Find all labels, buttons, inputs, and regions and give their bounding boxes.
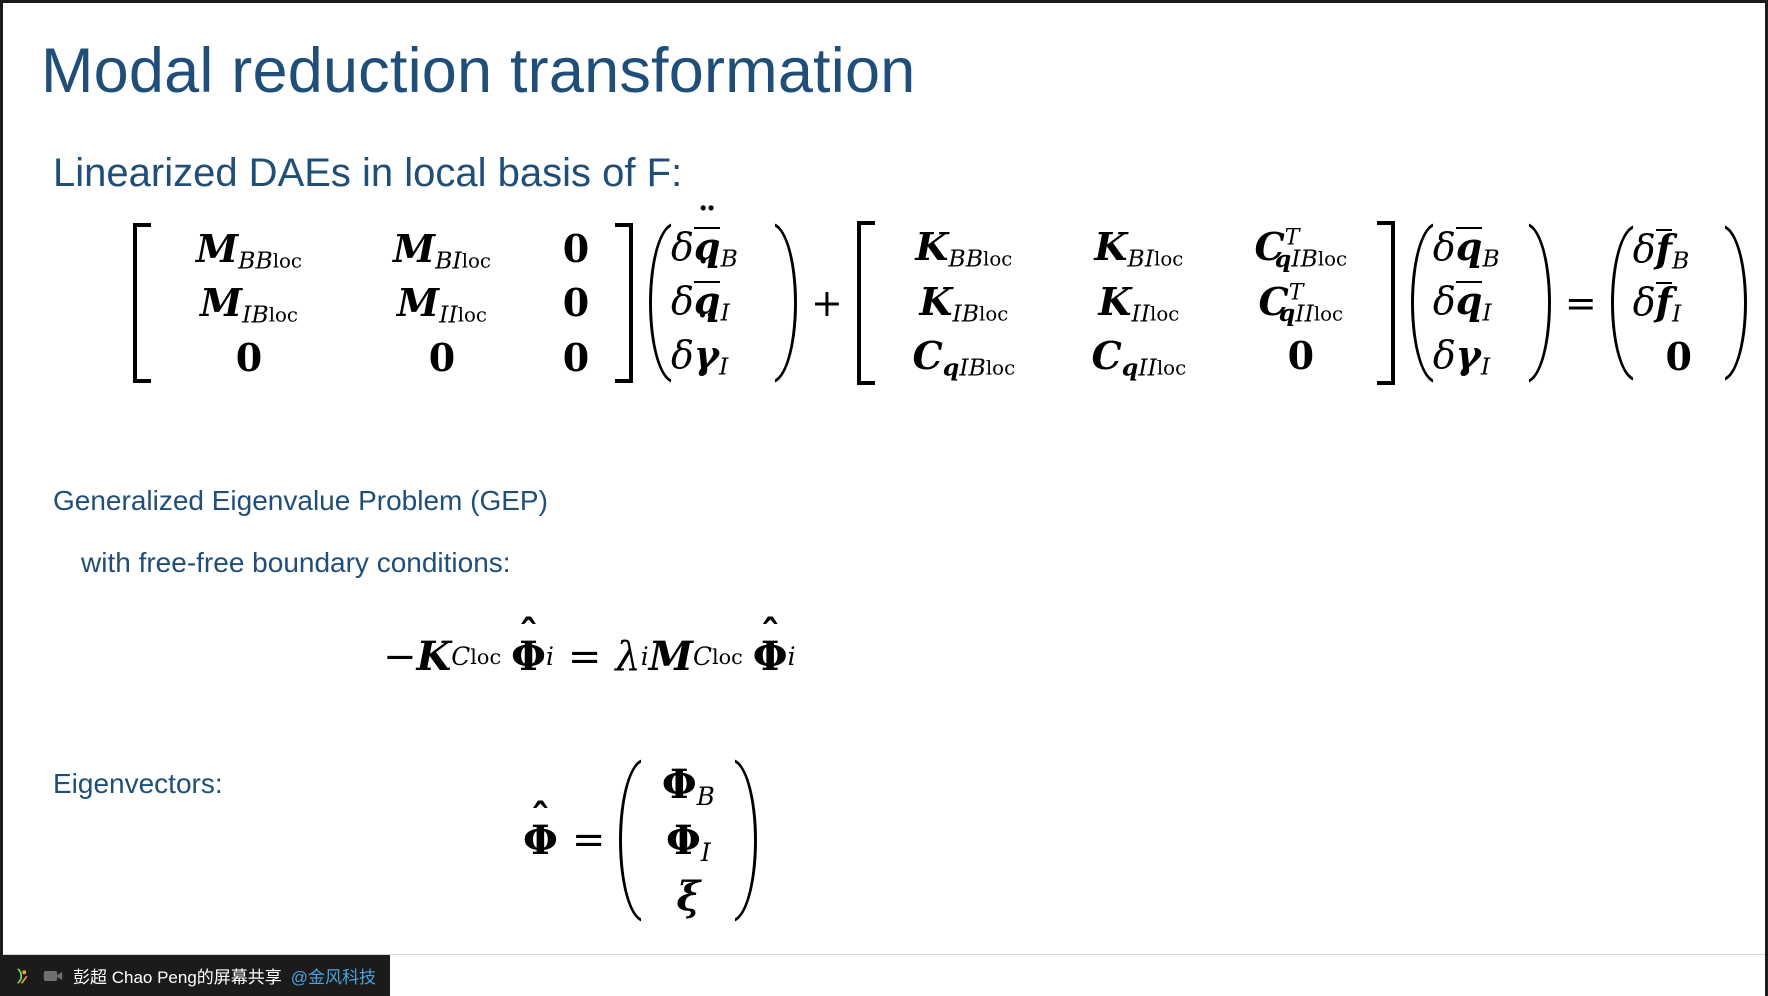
matrix-cell: CTqIBloc: [1225, 221, 1377, 276]
equals-operator: =: [554, 634, 616, 680]
dae-matrix-equation: MBBloc MBIloc 0 MIBloc MIIloc 0 0 0 0: [133, 221, 1747, 385]
matrix-bracket-left: [857, 221, 875, 385]
paren-right: [1725, 224, 1747, 382]
presentation-slide: Modal reduction transformation Linearize…: [0, 0, 1768, 996]
matrix-cell: KBBloc: [875, 221, 1053, 276]
paren-left: [619, 758, 641, 923]
matrix-cell: KIBloc: [875, 276, 1053, 331]
eigenvector-column: ΦB ΦI ξ: [619, 758, 757, 923]
camera-icon[interactable]: [42, 965, 64, 987]
vector-entry: ΦI: [641, 814, 735, 870]
taskbar: 彭超 Chao Peng的屏幕共享 @金风科技: [3, 954, 1768, 996]
phi-hat-symbol: Φ: [523, 817, 558, 864]
stiffness-matrix: KBBloc KBIloc CTqIBloc KIBloc KIIloc CTq…: [857, 221, 1395, 385]
vector-entry: δqI: [1433, 276, 1529, 330]
matrix-cell: CTqIIloc: [1225, 276, 1377, 331]
eigenvectors-heading: Eigenvectors:: [53, 768, 223, 800]
matrix-cell: MIBloc: [151, 277, 347, 332]
matrix-cell: 0: [537, 223, 615, 274]
matrix-cell: 0: [537, 332, 615, 383]
matrix-cell: MBIloc: [347, 223, 537, 278]
screen-share-indicator[interactable]: 彭超 Chao Peng的屏幕共享 @金风科技: [3, 955, 390, 996]
paren-right: [735, 758, 757, 923]
gep-subheading: with free-free boundary conditions:: [81, 547, 511, 579]
plus-operator: +: [797, 281, 857, 325]
vector-entry: ΦB: [641, 758, 735, 814]
vector-entry: δγI: [671, 329, 775, 384]
matrix-cell: 0: [347, 332, 537, 383]
section-heading-linearized-daes: Linearized DAEs in local basis of F:: [53, 151, 682, 196]
vector-entry: δγI: [1433, 329, 1529, 384]
share-text: 彭超 Chao Peng的屏幕共享: [73, 963, 282, 988]
vector-entry: 0: [1633, 331, 1725, 382]
matrix-cell: MIIloc: [347, 277, 537, 332]
phi-hat-symbol: Φ: [753, 633, 788, 680]
paren-left: [1611, 224, 1633, 382]
matrix-cell: 0: [151, 332, 347, 383]
gep-heading: Generalized Eigenvalue Problem (GEP): [53, 485, 548, 517]
screen-share-icon[interactable]: [11, 965, 33, 987]
matrix-cell: 0: [1225, 330, 1377, 381]
paren-right: [1529, 222, 1551, 384]
matrix-cell: CqIIloc: [1053, 330, 1225, 385]
vector-entry: δqB: [1433, 222, 1529, 276]
matrix-cell: MBBloc: [151, 223, 347, 278]
mass-matrix: MBBloc MBIloc 0 MIBloc MIIloc 0 0 0 0: [133, 223, 633, 383]
paren-left: [649, 222, 671, 384]
vector-entry: δfI: [1633, 277, 1725, 331]
share-handle: @金风科技: [291, 963, 376, 988]
equals-operator: =: [558, 817, 620, 863]
eigenvector-definition: Φ = ΦB ΦI ξ: [523, 758, 757, 923]
phi-hat-symbol: Φ: [511, 633, 546, 680]
paren-left: [1411, 222, 1433, 384]
matrix-cell: CqIBloc: [875, 330, 1053, 385]
equals-operator: =: [1551, 281, 1611, 325]
vector-entry: δqB: [671, 222, 775, 276]
vector-entry: δfB: [1633, 224, 1725, 278]
matrix-bracket-right: [615, 223, 633, 383]
matrix-bracket-right: [1377, 221, 1395, 385]
matrix-cell: KBIloc: [1053, 221, 1225, 276]
vector-entry: ξ: [641, 870, 735, 923]
minus-operator: −: [383, 634, 417, 680]
page-title: Modal reduction transformation: [41, 35, 915, 107]
matrix-bracket-left: [133, 223, 151, 383]
gep-equation: −KCloc Φi = λiMCloc Φi: [383, 633, 796, 680]
state-vector: δqB δqI δγI: [1411, 222, 1551, 384]
vector-entry: δqI: [671, 276, 775, 330]
matrix-cell: 0: [537, 277, 615, 328]
acceleration-vector: δqB δqI δγI: [649, 222, 797, 384]
paren-right: [775, 222, 797, 384]
matrix-cell: KIIloc: [1053, 276, 1225, 331]
force-vector: δfB δfI 0: [1611, 224, 1747, 382]
